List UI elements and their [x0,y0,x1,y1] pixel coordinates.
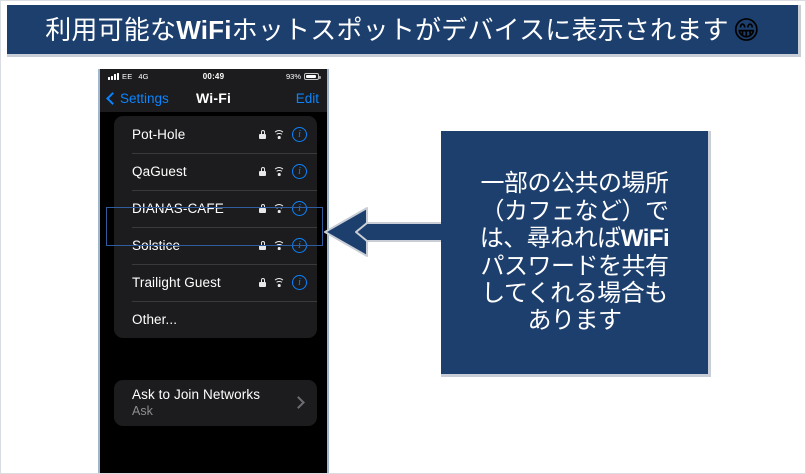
wifi-network-name: Solstice [132,238,180,253]
wifi-network-name: Trailight Guest [132,275,221,290]
wifi-network-list: Pot-Hole i QaGuest i D [114,116,317,338]
other-network-label: Other... [132,312,177,327]
phone-screenshot: EE 4G 00:49 93% Settings Wi-Fi Edit Pot-… [98,69,329,474]
wifi-network-name: DIANAS-CAFE [132,201,224,216]
header-title-pre: 利用可能な [45,15,176,45]
header-title: 利用可能なWiFiホットスポットがデバイスに表示されます [45,17,729,43]
ask-to-join-title: Ask to Join Networks [132,387,307,402]
header-title-post: ホットスポットがデバイスに表示されます [232,15,729,45]
info-icon[interactable]: i [292,238,307,253]
lock-icon [259,278,266,287]
info-icon[interactable]: i [292,201,307,216]
wifi-signal-icon [273,204,285,213]
info-icon[interactable]: i [292,275,307,290]
callout-line-2: （カフェなど）で [481,198,669,225]
callout-line-4: パスワードを共有 [481,253,669,280]
info-icon[interactable]: i [292,127,307,142]
wifi-row-icons: i [259,275,307,290]
wifi-row-pot-hole[interactable]: Pot-Hole i [114,116,317,153]
wifi-row-icons: i [259,201,307,216]
wifi-row-trailight-guest[interactable]: Trailight Guest i [114,264,317,301]
callout-arrow-left-icon [323,204,447,260]
header-banner: 利用可能なWiFiホットスポットがデバイスに表示されます 😁 [7,5,801,57]
wifi-network-name: QaGuest [132,164,187,179]
wifi-signal-icon [273,167,285,176]
wifi-settings-body: Pot-Hole i QaGuest i D [100,112,327,474]
callout-line-1: 一部の公共の場所 [481,170,669,197]
callout-line-3-bold: WiFi [621,225,669,252]
status-bar-clock: 00:49 [100,72,327,81]
lock-icon [259,167,266,176]
ask-to-join-networks-row[interactable]: Ask to Join Networks Ask [114,380,317,426]
callout-line-6: あります [528,307,622,334]
battery-icon [304,73,319,81]
grinning-face-emoji-icon: 😁 [733,17,760,43]
ask-to-join-value: Ask [132,404,307,418]
wifi-row-icons: i [259,164,307,179]
wifi-row-dianas-cafe[interactable]: DIANAS-CAFE i [114,190,317,227]
screenshot-canvas: 利用可能なWiFiホットスポットがデバイスに表示されます 😁 EE 4G 00:… [0,0,806,474]
info-icon[interactable]: i [292,164,307,179]
wifi-signal-icon [273,278,285,287]
wifi-row-icons: i [259,127,307,142]
ios-nav-bar: Settings Wi-Fi Edit [100,84,327,112]
ios-status-bar: EE 4G 00:49 93% [100,69,327,84]
wifi-row-solstice[interactable]: Solstice i [114,227,317,264]
lock-icon [259,130,266,139]
wifi-row-icons: i [259,238,307,253]
wifi-row-other[interactable]: Other... [114,301,317,338]
callout-box: 一部の公共の場所 （カフェなど）で は、尋ねればWiFi パスワードを共有 して… [441,131,711,377]
wifi-network-name: Pot-Hole [132,127,185,142]
header-title-bold: WiFi [176,15,231,45]
callout-text: 一部の公共の場所 （カフェなど）で は、尋ねればWiFi パスワードを共有 して… [480,170,669,334]
wifi-signal-icon [273,241,285,250]
lock-icon [259,204,266,213]
lock-icon [259,241,266,250]
wifi-row-qaguest[interactable]: QaGuest i [114,153,317,190]
page-title: Wi-Fi [100,90,327,106]
callout-line-5: してくれる場合も [481,280,668,307]
wifi-signal-icon [273,130,285,139]
callout-line-3-pre: は、尋ねれば [480,225,621,252]
